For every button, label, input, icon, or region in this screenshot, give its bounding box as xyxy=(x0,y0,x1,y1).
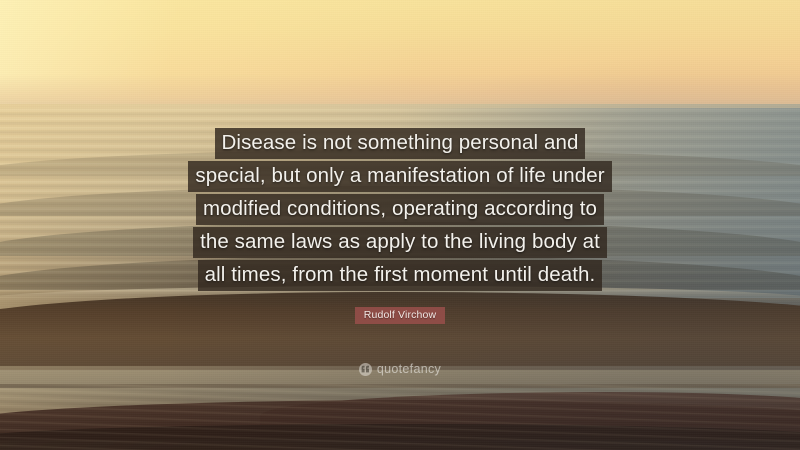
quote-line: Disease is not something personal and xyxy=(215,128,586,159)
foreground-ripples xyxy=(0,384,800,450)
quote-line: special, but only a manifestation of lif… xyxy=(188,161,611,192)
quote-text-block: Disease is not something personal and sp… xyxy=(0,128,800,293)
quote-image-canvas: Disease is not something personal and sp… xyxy=(0,0,800,450)
attribution-author: Rudolf Virchow xyxy=(355,307,446,324)
attribution-container: Rudolf Virchow xyxy=(0,305,800,324)
quote-line: modified conditions, operating according… xyxy=(196,194,604,225)
quote-line: the same laws as apply to the living bod… xyxy=(193,227,607,258)
quote-line: all times, from the first moment until d… xyxy=(198,260,603,291)
